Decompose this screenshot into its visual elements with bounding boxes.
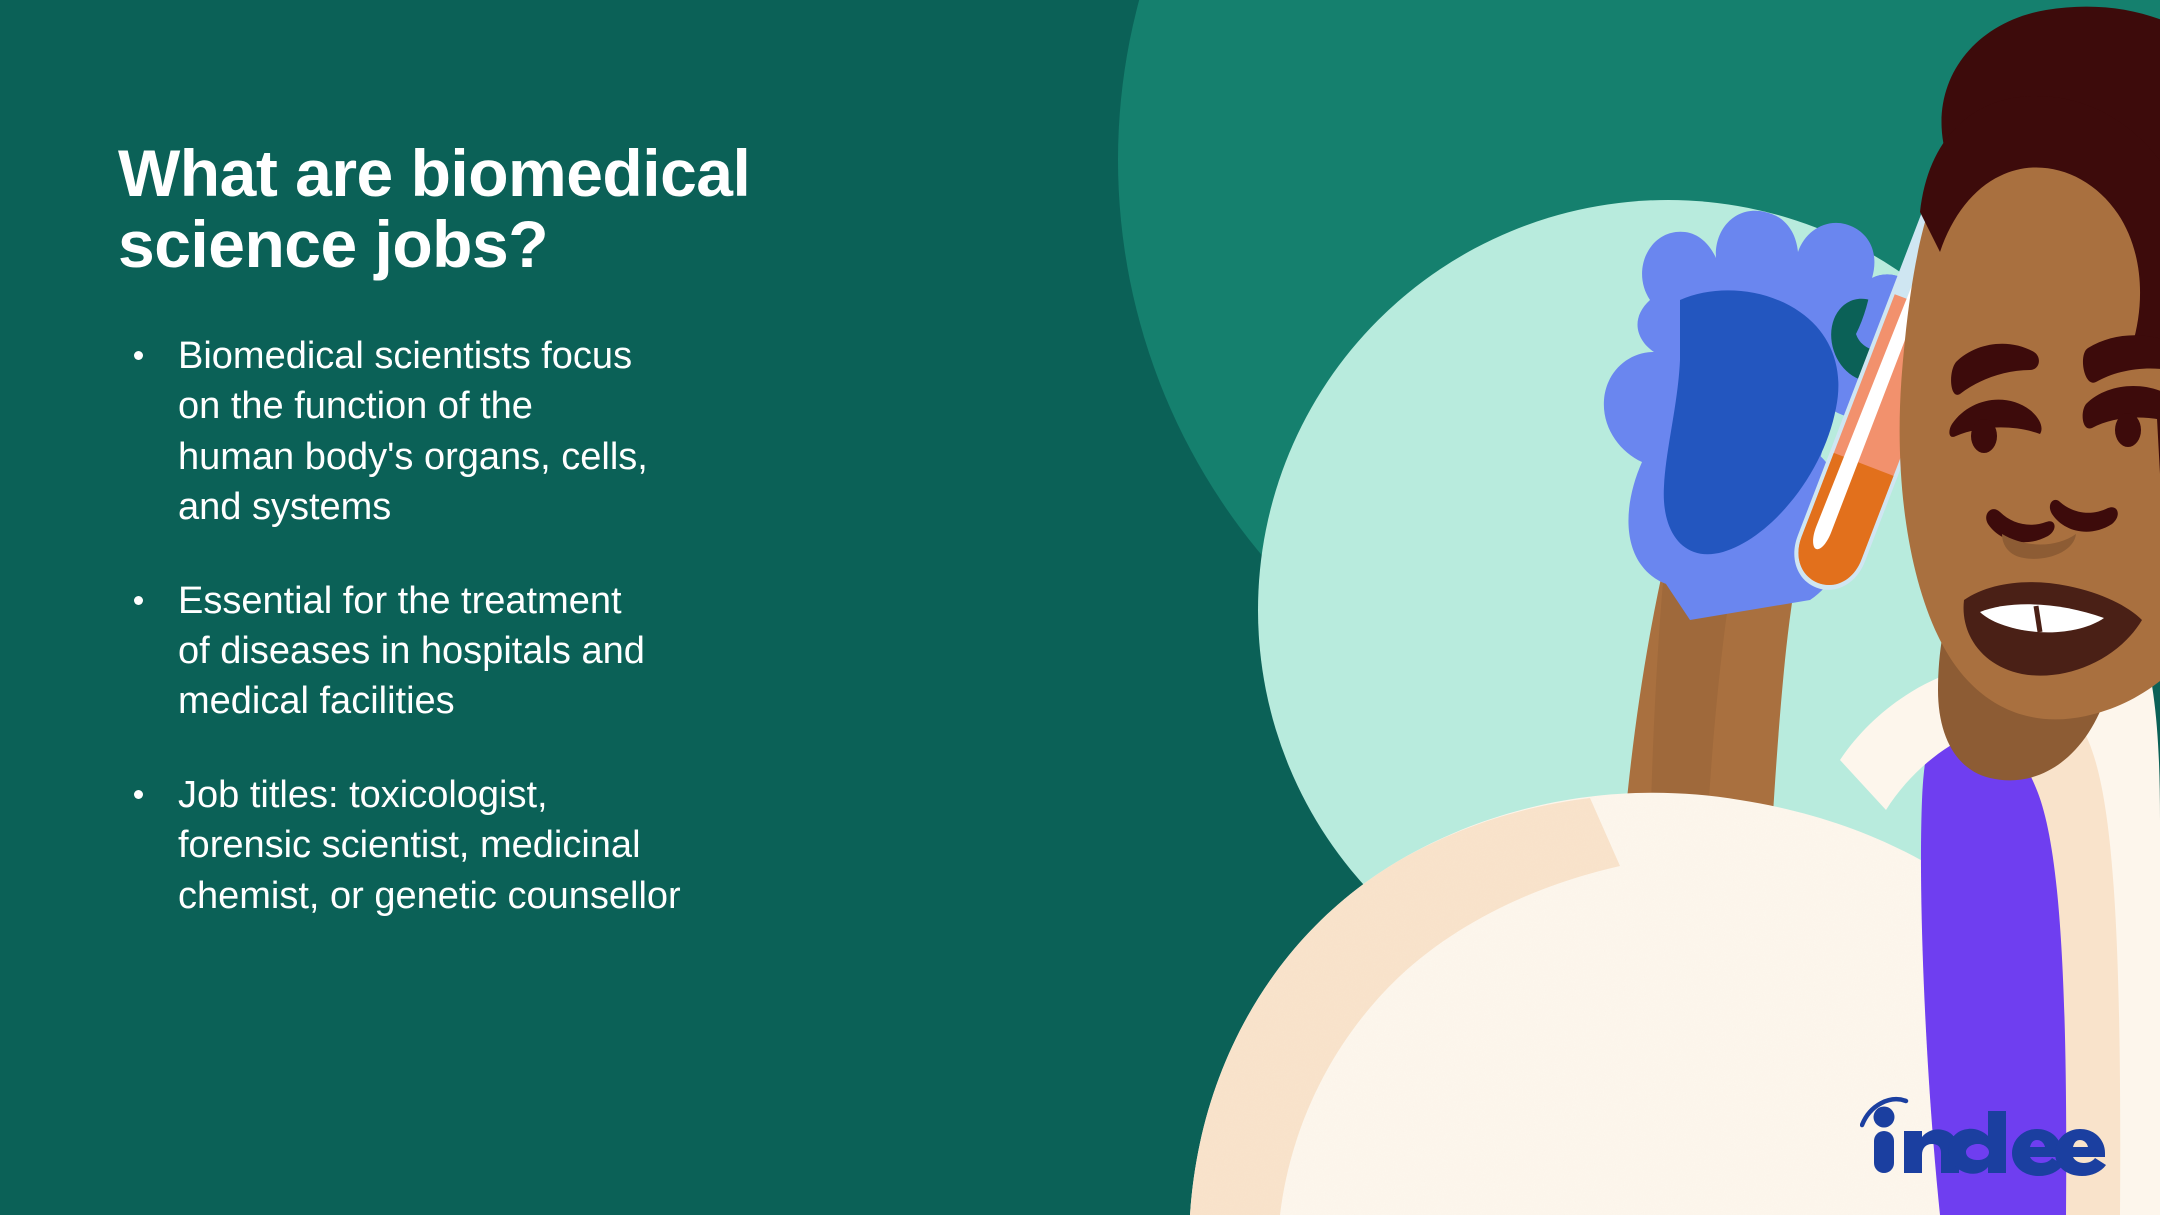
eye-left-pupil	[1971, 419, 1997, 453]
scientist-illustration	[860, 0, 2160, 1215]
indeed-letter-i	[1874, 1131, 1894, 1173]
bullet-text: Essential for the treatment of diseases …	[178, 576, 828, 726]
indeed-logo[interactable]: indeed	[1860, 1095, 2110, 1177]
poster-canvas: What are biomedical science jobs? Biomed…	[0, 0, 2160, 1215]
bullet-text: Biomedical scientists focus on the funct…	[178, 331, 828, 532]
text-column: What are biomedical science jobs? Biomed…	[118, 138, 938, 921]
indeed-letter-d1	[1948, 1111, 2006, 1174]
bullet-text: Job titles: toxicologist, forensic scien…	[178, 770, 828, 920]
bullet-dot-icon	[134, 790, 143, 799]
bullet-dot-icon	[134, 351, 143, 360]
bullet-dot-icon	[134, 596, 143, 605]
bullet-list: Biomedical scientists focus on the funct…	[118, 331, 938, 921]
list-item: Biomedical scientists focus on the funct…	[118, 331, 828, 532]
indeed-i-dot	[1874, 1107, 1895, 1128]
list-item: Essential for the treatment of diseases …	[118, 576, 828, 726]
page-title: What are biomedical science jobs?	[118, 138, 938, 279]
eye-right-pupil	[2115, 413, 2141, 447]
list-item: Job titles: toxicologist, forensic scien…	[118, 770, 828, 920]
